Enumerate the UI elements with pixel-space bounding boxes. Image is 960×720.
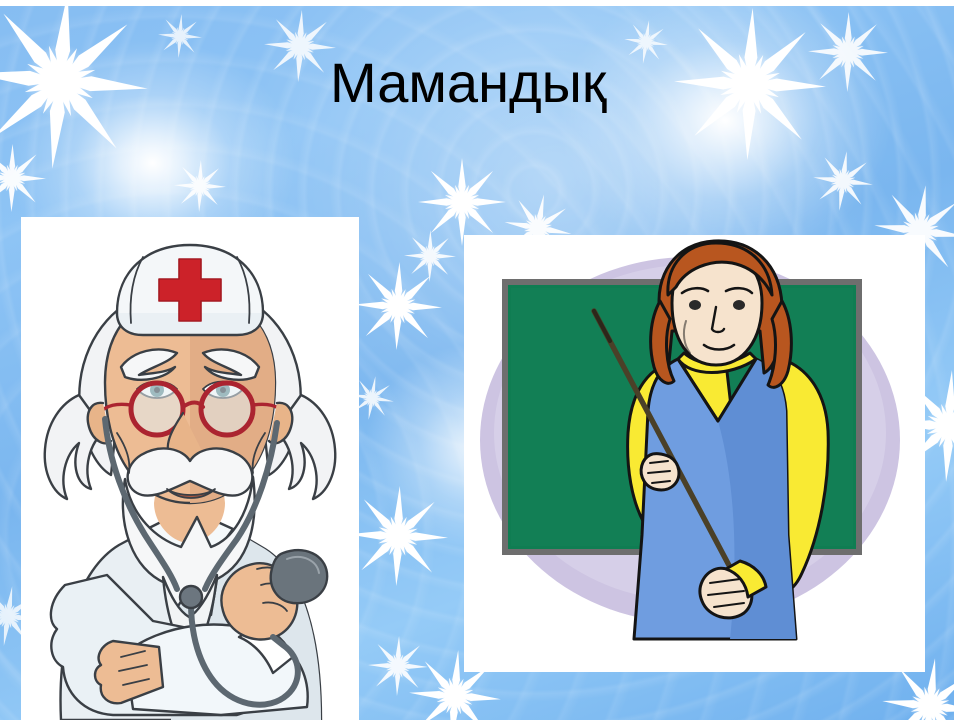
slide-canvas: Мамандық: [0, 0, 960, 720]
page-title: Мамандық: [330, 54, 660, 113]
star-burst: [404, 230, 456, 282]
star-burst: [0, 6, 148, 169]
star-burst: [813, 151, 873, 211]
star-burst: [0, 144, 46, 212]
star-burst: [674, 8, 826, 160]
star-burst: [354, 262, 442, 350]
star-burst: [418, 158, 506, 246]
star-burst: [348, 486, 448, 586]
star-burst: [368, 636, 428, 696]
star-burst: [174, 160, 226, 212]
doctor-image-frame[interactable]: [21, 217, 359, 720]
star-burst: [808, 12, 888, 92]
teacher-illustration: [464, 235, 925, 672]
teacher-image-frame[interactable]: [464, 235, 925, 672]
star-burst: [264, 10, 336, 82]
star-burst: [158, 14, 202, 58]
doctor-illustration: [21, 217, 359, 720]
